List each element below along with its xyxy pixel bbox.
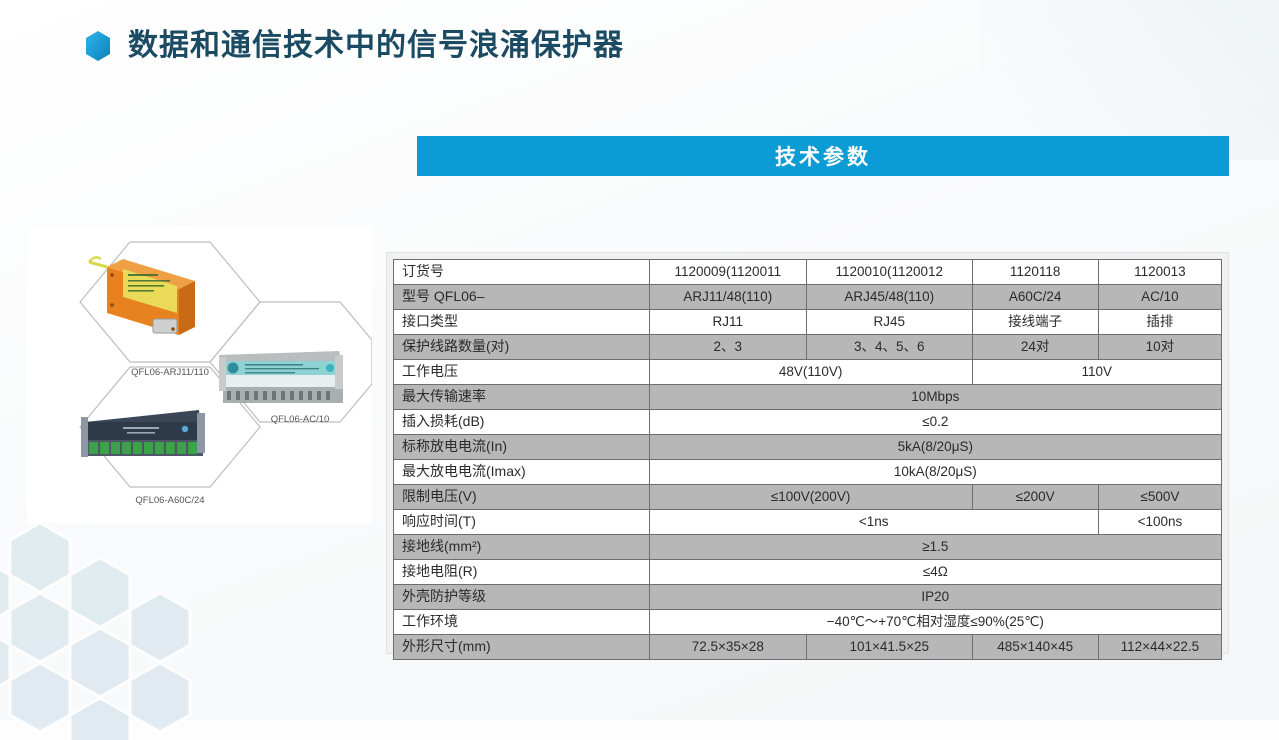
table-row: 最大传输速率10Mbps <box>394 385 1222 410</box>
spec-cell: 1120013 <box>1098 260 1221 285</box>
spec-cell: 插排 <box>1098 310 1221 335</box>
table-row: 标称放电电流(In)5kA(8/20μS) <box>394 435 1222 460</box>
spec-row-label: 外形尺寸(mm) <box>394 635 650 660</box>
table-row: 保护线路数量(对)2、33、4、5、624对10对 <box>394 335 1222 360</box>
spec-cell: A60C/24 <box>972 285 1098 310</box>
spec-cell: 1120009(1120011 <box>649 260 806 285</box>
spec-row-label: 工作环境 <box>394 610 650 635</box>
page-header: 数据和通信技术中的信号浪涌保护器 <box>84 30 624 62</box>
spec-cell: 1120118 <box>972 260 1098 285</box>
spec-cell: ARJ11/48(110) <box>649 285 806 310</box>
table-row: 外形尺寸(mm)72.5×35×28101×41.5×25485×140×451… <box>394 635 1222 660</box>
spec-cell: RJ11 <box>649 310 806 335</box>
table-row: 最大放电电流(Imax)10kA(8/20μS) <box>394 460 1222 485</box>
spec-row-label: 保护线路数量(对) <box>394 335 650 360</box>
spec-cell: 接线端子 <box>972 310 1098 335</box>
section-banner: 技术参数 <box>417 136 1229 176</box>
spec-row-label: 接口类型 <box>394 310 650 335</box>
spec-cell: 48V(110V) <box>649 360 972 385</box>
spec-row-label: 最大放电电流(Imax) <box>394 460 650 485</box>
table-row: 插入损耗(dB)≤0.2 <box>394 410 1222 435</box>
spec-cell: ≤100V(200V) <box>649 485 972 510</box>
spec-row-label: 最大传输速率 <box>394 385 650 410</box>
table-row: 接口类型RJ11RJ45接线端子插排 <box>394 310 1222 335</box>
spec-table: 订货号1120009(11200111120010(11200121120118… <box>393 259 1222 660</box>
spec-row-label: 工作电压 <box>394 360 650 385</box>
spec-table-frame: 订货号1120009(11200111120010(11200121120118… <box>386 252 1229 654</box>
spec-cell: 24对 <box>972 335 1098 360</box>
table-row: 限制电压(V)≤100V(200V)≤200V≤500V <box>394 485 1222 510</box>
table-row: 接地电阻(R)≤4Ω <box>394 560 1222 585</box>
product-caption-2: QFL06-AC/10 <box>271 414 330 425</box>
spec-cell: AC/10 <box>1098 285 1221 310</box>
spec-row-label: 标称放电电流(In) <box>394 435 650 460</box>
spec-cell: 485×140×45 <box>972 635 1098 660</box>
spec-cell: ≤500V <box>1098 485 1221 510</box>
product-caption-3: QFL06-A60C/24 <box>135 495 204 506</box>
product-caption-1: QFL06-ARJ11/110 <box>131 367 209 378</box>
table-row: 型号 QFL06–ARJ11/48(110)ARJ45/48(110)A60C/… <box>394 285 1222 310</box>
product-photo-panel: QFL06-ARJ11/110 <box>27 227 372 523</box>
spec-row-label: 订货号 <box>394 260 650 285</box>
spec-cell: −40℃～+70℃相对湿度≤90%(25℃) <box>649 610 1221 635</box>
spec-cell: 2、3 <box>649 335 806 360</box>
spec-cell: ≥1.5 <box>649 535 1221 560</box>
spec-cell: <1ns <box>649 510 1098 535</box>
table-row: 外壳防护等级IP20 <box>394 585 1222 610</box>
spec-cell: 112×44×22.5 <box>1098 635 1221 660</box>
spec-row-label: 型号 QFL06– <box>394 285 650 310</box>
spec-row-label: 接地电阻(R) <box>394 560 650 585</box>
table-row: 工作电压48V(110V)110V <box>394 360 1222 385</box>
spec-row-label: 插入损耗(dB) <box>394 410 650 435</box>
table-row: 接地线(mm²)≥1.5 <box>394 535 1222 560</box>
spec-cell: ARJ45/48(110) <box>806 285 972 310</box>
spec-cell: 5kA(8/20μS) <box>649 435 1221 460</box>
spec-cell: <100ns <box>1098 510 1221 535</box>
spec-cell: IP20 <box>649 585 1221 610</box>
table-row: 工作环境−40℃～+70℃相对湿度≤90%(25℃) <box>394 610 1222 635</box>
spec-row-label: 外壳防护等级 <box>394 585 650 610</box>
spec-row-label: 响应时间(T) <box>394 510 650 535</box>
section-banner-label: 技术参数 <box>775 141 871 171</box>
spec-cell: 3、4、5、6 <box>806 335 972 360</box>
table-row: 响应时间(T)<1ns<100ns <box>394 510 1222 535</box>
page-title: 数据和通信技术中的信号浪涌保护器 <box>128 31 624 61</box>
spec-row-label: 限制电压(V) <box>394 485 650 510</box>
spec-cell: 1120010(1120012 <box>806 260 972 285</box>
spec-cell: 72.5×35×28 <box>649 635 806 660</box>
table-row: 订货号1120009(11200111120010(11200121120118… <box>394 260 1222 285</box>
hexagon-bullet-icon <box>84 30 112 62</box>
spec-row-label: 接地线(mm²) <box>394 535 650 560</box>
spec-cell: ≤200V <box>972 485 1098 510</box>
spec-cell: ≤0.2 <box>649 410 1221 435</box>
spec-cell: 101×41.5×25 <box>806 635 972 660</box>
spec-cell: 10kA(8/20μS) <box>649 460 1221 485</box>
spec-cell: ≤4Ω <box>649 560 1221 585</box>
spec-cell: 10对 <box>1098 335 1221 360</box>
spec-cell: 10Mbps <box>649 385 1221 410</box>
spec-cell: RJ45 <box>806 310 972 335</box>
spec-cell: 110V <box>972 360 1221 385</box>
teal-terminal-module-photo <box>219 351 343 403</box>
